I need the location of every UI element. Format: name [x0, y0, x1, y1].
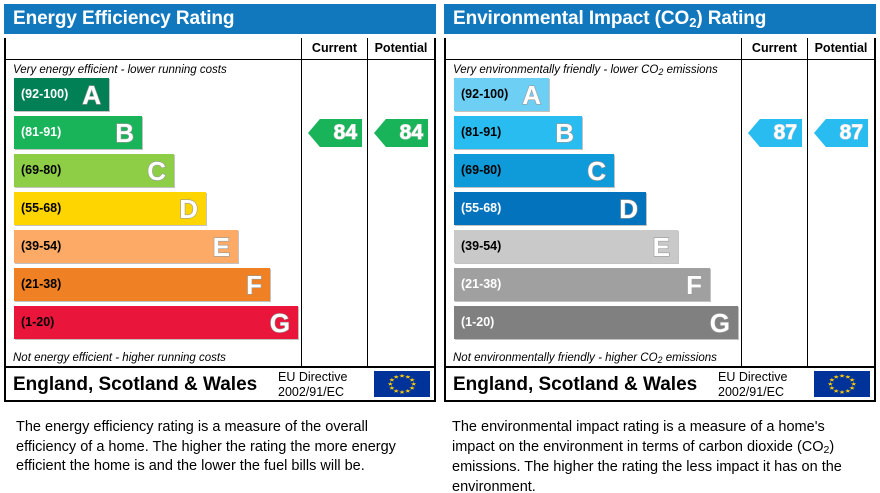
eu-directive-line1-energy: EU Directive — [278, 370, 374, 385]
band-letter-a: A — [522, 82, 543, 108]
top-note-co2-suffix: emissions — [663, 64, 717, 76]
header-blank-cell — [6, 38, 302, 59]
eu-flag-icon-co2 — [814, 371, 870, 397]
band-range-e: (39-54) — [461, 240, 501, 253]
environmental-impact-chart: Environmental Impact (CO2) Rating Curren… — [444, 4, 876, 402]
environmental-title-sub: 2 — [689, 15, 696, 30]
energy-efficiency-title-text: Energy Efficiency Rating — [13, 8, 234, 29]
potential-rating-arrow: 87 — [814, 119, 868, 147]
environmental-description-line3a: carbon dioxide (CO — [699, 439, 824, 455]
band-bar-g: (1-20)G — [454, 306, 738, 339]
potential-rating-value: 87 — [840, 121, 863, 145]
energy-potential-column: 84 — [368, 60, 434, 366]
band-bar-g: (1-20)G — [14, 306, 298, 339]
band-range-b: (81-91) — [21, 126, 61, 139]
band-bar-a: (92-100)A — [454, 78, 549, 111]
band-letter-g: G — [710, 310, 732, 336]
co2-band-bar-list: (92-100)A(81-91)B(69-80)C(55-68)D(39-54)… — [446, 78, 741, 348]
top-note-co2: Very environmentally friendly - lower CO… — [446, 60, 741, 78]
energy-efficiency-header-row: Current Potential — [6, 38, 434, 60]
bottom-note-co2-prefix: Not environmentally friendly - higher CO — [453, 352, 658, 364]
bottom-note-co2: Not environmentally friendly - higher CO… — [446, 348, 741, 366]
epc-chart-page: Energy Efficiency Rating Current Potenti… — [0, 0, 880, 493]
band-bar-c: (69-80)C — [14, 154, 174, 187]
energy-description: The energy efficiency rating is a measur… — [16, 418, 416, 477]
band-range-f: (21-38) — [461, 278, 501, 291]
energy-efficiency-bars-area: Very energy efficient - lower running co… — [6, 60, 302, 366]
header-potential: Potential — [368, 38, 434, 59]
top-note-co2-sub: 2 — [658, 67, 663, 77]
eu-flag-icon — [374, 371, 430, 397]
band-range-a: (92-100) — [21, 88, 68, 101]
top-note-co2-prefix: Very environmentally friendly - lower CO — [453, 64, 658, 76]
country-label-co2: England, Scotland & Wales — [446, 368, 718, 400]
current-rating-arrow: 84 — [308, 119, 362, 147]
energy-efficiency-table: Current Potential Very energy efficient … — [4, 38, 436, 402]
environmental-header-row: Current Potential — [446, 38, 874, 60]
eu-directive-co2: EU Directive 2002/91/EC — [718, 368, 814, 400]
energy-band-bar-list: (92-100)A(81-91)B(69-80)C(55-68)D(39-54)… — [6, 78, 301, 348]
band-range-d: (55-68) — [461, 202, 501, 215]
current-rating-value: 84 — [334, 121, 357, 145]
header-potential-co2: Potential — [808, 38, 874, 59]
band-bar-f: (21-38)F — [14, 268, 270, 301]
top-note-energy: Very energy efficient - lower running co… — [6, 60, 301, 78]
energy-efficiency-body: Very energy efficient - lower running co… — [6, 60, 434, 366]
header-current-co2: Current — [742, 38, 808, 59]
band-bar-d: (55-68)D — [14, 192, 206, 225]
current-rating-arrow: 87 — [748, 119, 802, 147]
band-bar-e: (39-54)E — [14, 230, 238, 263]
band-letter-d: D — [619, 196, 640, 222]
co2-potential-column: 87 — [808, 60, 874, 366]
bottom-note-co2-suffix: emissions — [663, 352, 717, 364]
band-range-e: (39-54) — [21, 240, 61, 253]
band-letter-d: D — [179, 196, 200, 222]
band-letter-f: F — [686, 272, 704, 298]
environmental-impact-title: Environmental Impact (CO2) Rating — [444, 4, 876, 34]
energy-efficiency-chart: Energy Efficiency Rating Current Potenti… — [4, 4, 436, 402]
band-bar-a: (92-100)A — [14, 78, 109, 111]
band-bar-e: (39-54)E — [454, 230, 678, 263]
environmental-bars-area: Very environmentally friendly - lower CO… — [446, 60, 742, 366]
band-letter-g: G — [270, 310, 292, 336]
environmental-title-suffix: ) Rating — [696, 8, 766, 29]
environmental-description-line1: The environmental impact rating is a mea… — [452, 419, 762, 435]
energy-footer: England, Scotland & Wales EU Directive 2… — [6, 366, 434, 400]
band-bar-b: (81-91)B — [14, 116, 142, 149]
eu-directive-energy: EU Directive 2002/91/EC — [278, 368, 374, 400]
band-range-a: (92-100) — [461, 88, 508, 101]
band-range-f: (21-38) — [21, 278, 61, 291]
band-letter-c: C — [587, 158, 608, 184]
eu-flag-stars-icon — [374, 371, 430, 397]
band-range-g: (1-20) — [461, 316, 494, 329]
potential-rating-value: 84 — [400, 121, 423, 145]
header-blank-cell-co2 — [446, 38, 742, 59]
band-letter-b: B — [115, 120, 136, 146]
band-range-b: (81-91) — [461, 126, 501, 139]
eu-flag-stars-icon-co2 — [814, 371, 870, 397]
environmental-footer: England, Scotland & Wales EU Directive 2… — [446, 366, 874, 400]
band-letter-c: C — [147, 158, 168, 184]
band-letter-f: F — [246, 272, 264, 298]
eu-directive-line2-energy: 2002/91/EC — [278, 385, 374, 400]
band-letter-b: B — [555, 120, 576, 146]
bottom-note-co2-sub: 2 — [658, 355, 663, 365]
eu-directive-line2-co2: 2002/91/EC — [718, 385, 814, 400]
energy-efficiency-title: Energy Efficiency Rating — [4, 4, 436, 34]
current-rating-value: 87 — [774, 121, 797, 145]
band-bar-b: (81-91)B — [454, 116, 582, 149]
band-letter-e: E — [653, 234, 672, 260]
band-bar-d: (55-68)D — [454, 192, 646, 225]
header-current: Current — [302, 38, 368, 59]
environmental-description-line3-sub: 2 — [824, 444, 830, 456]
potential-rating-arrow: 84 — [374, 119, 428, 147]
environmental-title-prefix: Environmental Impact (CO — [453, 8, 689, 29]
band-range-c: (69-80) — [21, 164, 61, 177]
environmental-impact-body: Very environmentally friendly - lower CO… — [446, 60, 874, 366]
band-range-g: (1-20) — [21, 316, 54, 329]
band-range-d: (55-68) — [21, 202, 61, 215]
environmental-description: The environmental impact rating is a mea… — [452, 418, 852, 493]
band-letter-e: E — [213, 234, 232, 260]
band-letter-a: A — [82, 82, 103, 108]
environmental-impact-table: Current Potential Very environmentally f… — [444, 38, 876, 402]
band-bar-f: (21-38)F — [454, 268, 710, 301]
co2-current-column: 87 — [742, 60, 808, 366]
band-range-c: (69-80) — [461, 164, 501, 177]
eu-directive-line1-co2: EU Directive — [718, 370, 814, 385]
bottom-note-energy: Not energy efficient - higher running co… — [6, 348, 301, 366]
country-label-energy: England, Scotland & Wales — [6, 368, 278, 400]
band-bar-c: (69-80)C — [454, 154, 614, 187]
energy-current-column: 84 — [302, 60, 368, 366]
